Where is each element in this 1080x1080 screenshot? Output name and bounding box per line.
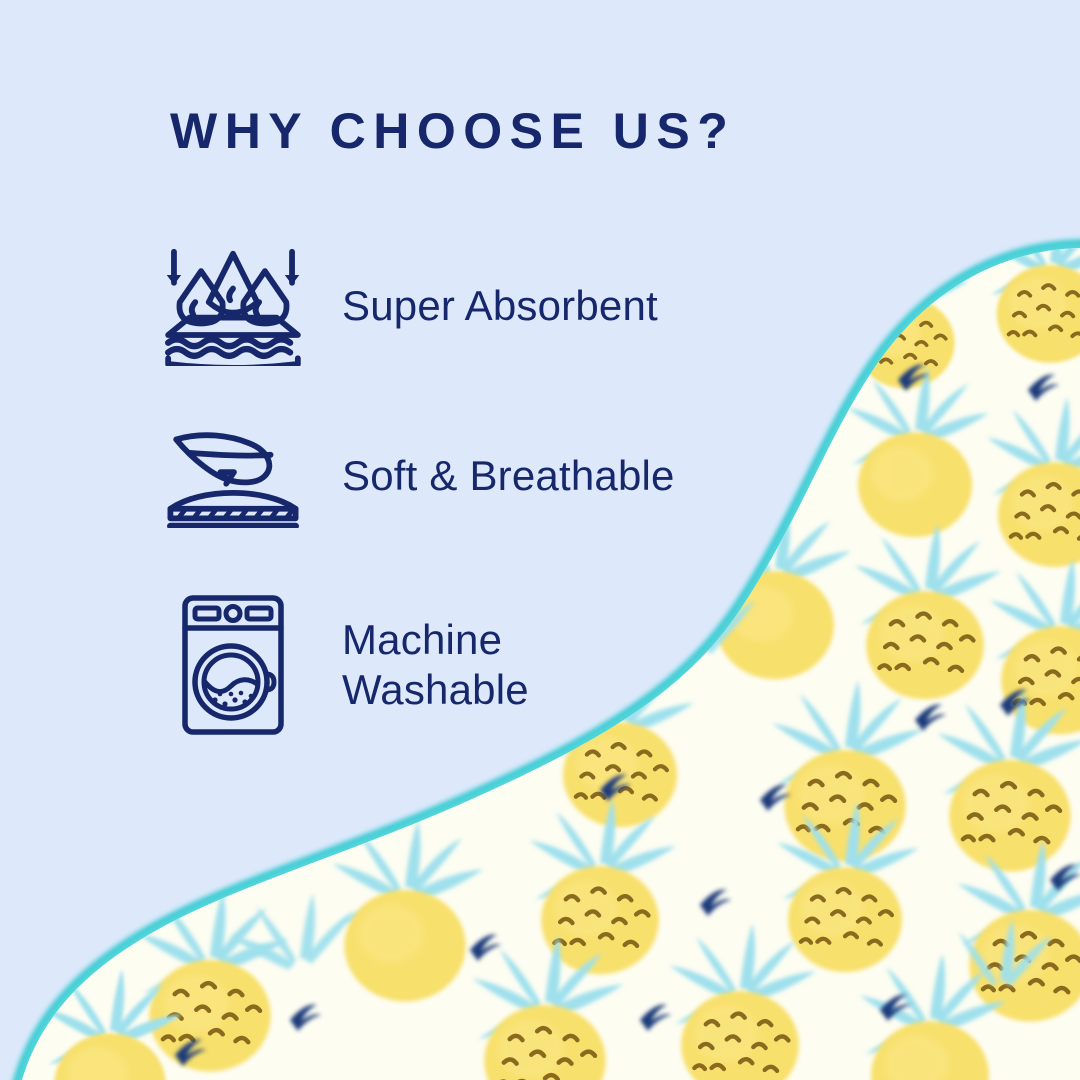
water-absorption-icon	[160, 246, 306, 366]
feature-item-soft-breathable: Soft & Breathable	[160, 424, 675, 528]
page-title: WHY CHOOSE US?	[170, 106, 735, 156]
feature-label-soft-breathable: Soft & Breathable	[342, 451, 675, 501]
feather-breathable-icon	[160, 424, 306, 528]
feature-item-machine-washable: Machine Washable	[160, 590, 529, 740]
product-fabric-image	[0, 0, 1080, 1080]
feature-label-machine-washable: Machine Washable	[342, 615, 529, 714]
infographic-canvas: WHY CHOOSE US? Sup	[0, 0, 1080, 1080]
feature-label-super-absorbent: Super Absorbent	[342, 281, 658, 331]
washing-machine-icon	[160, 590, 306, 740]
feature-item-super-absorbent: Super Absorbent	[160, 246, 658, 366]
